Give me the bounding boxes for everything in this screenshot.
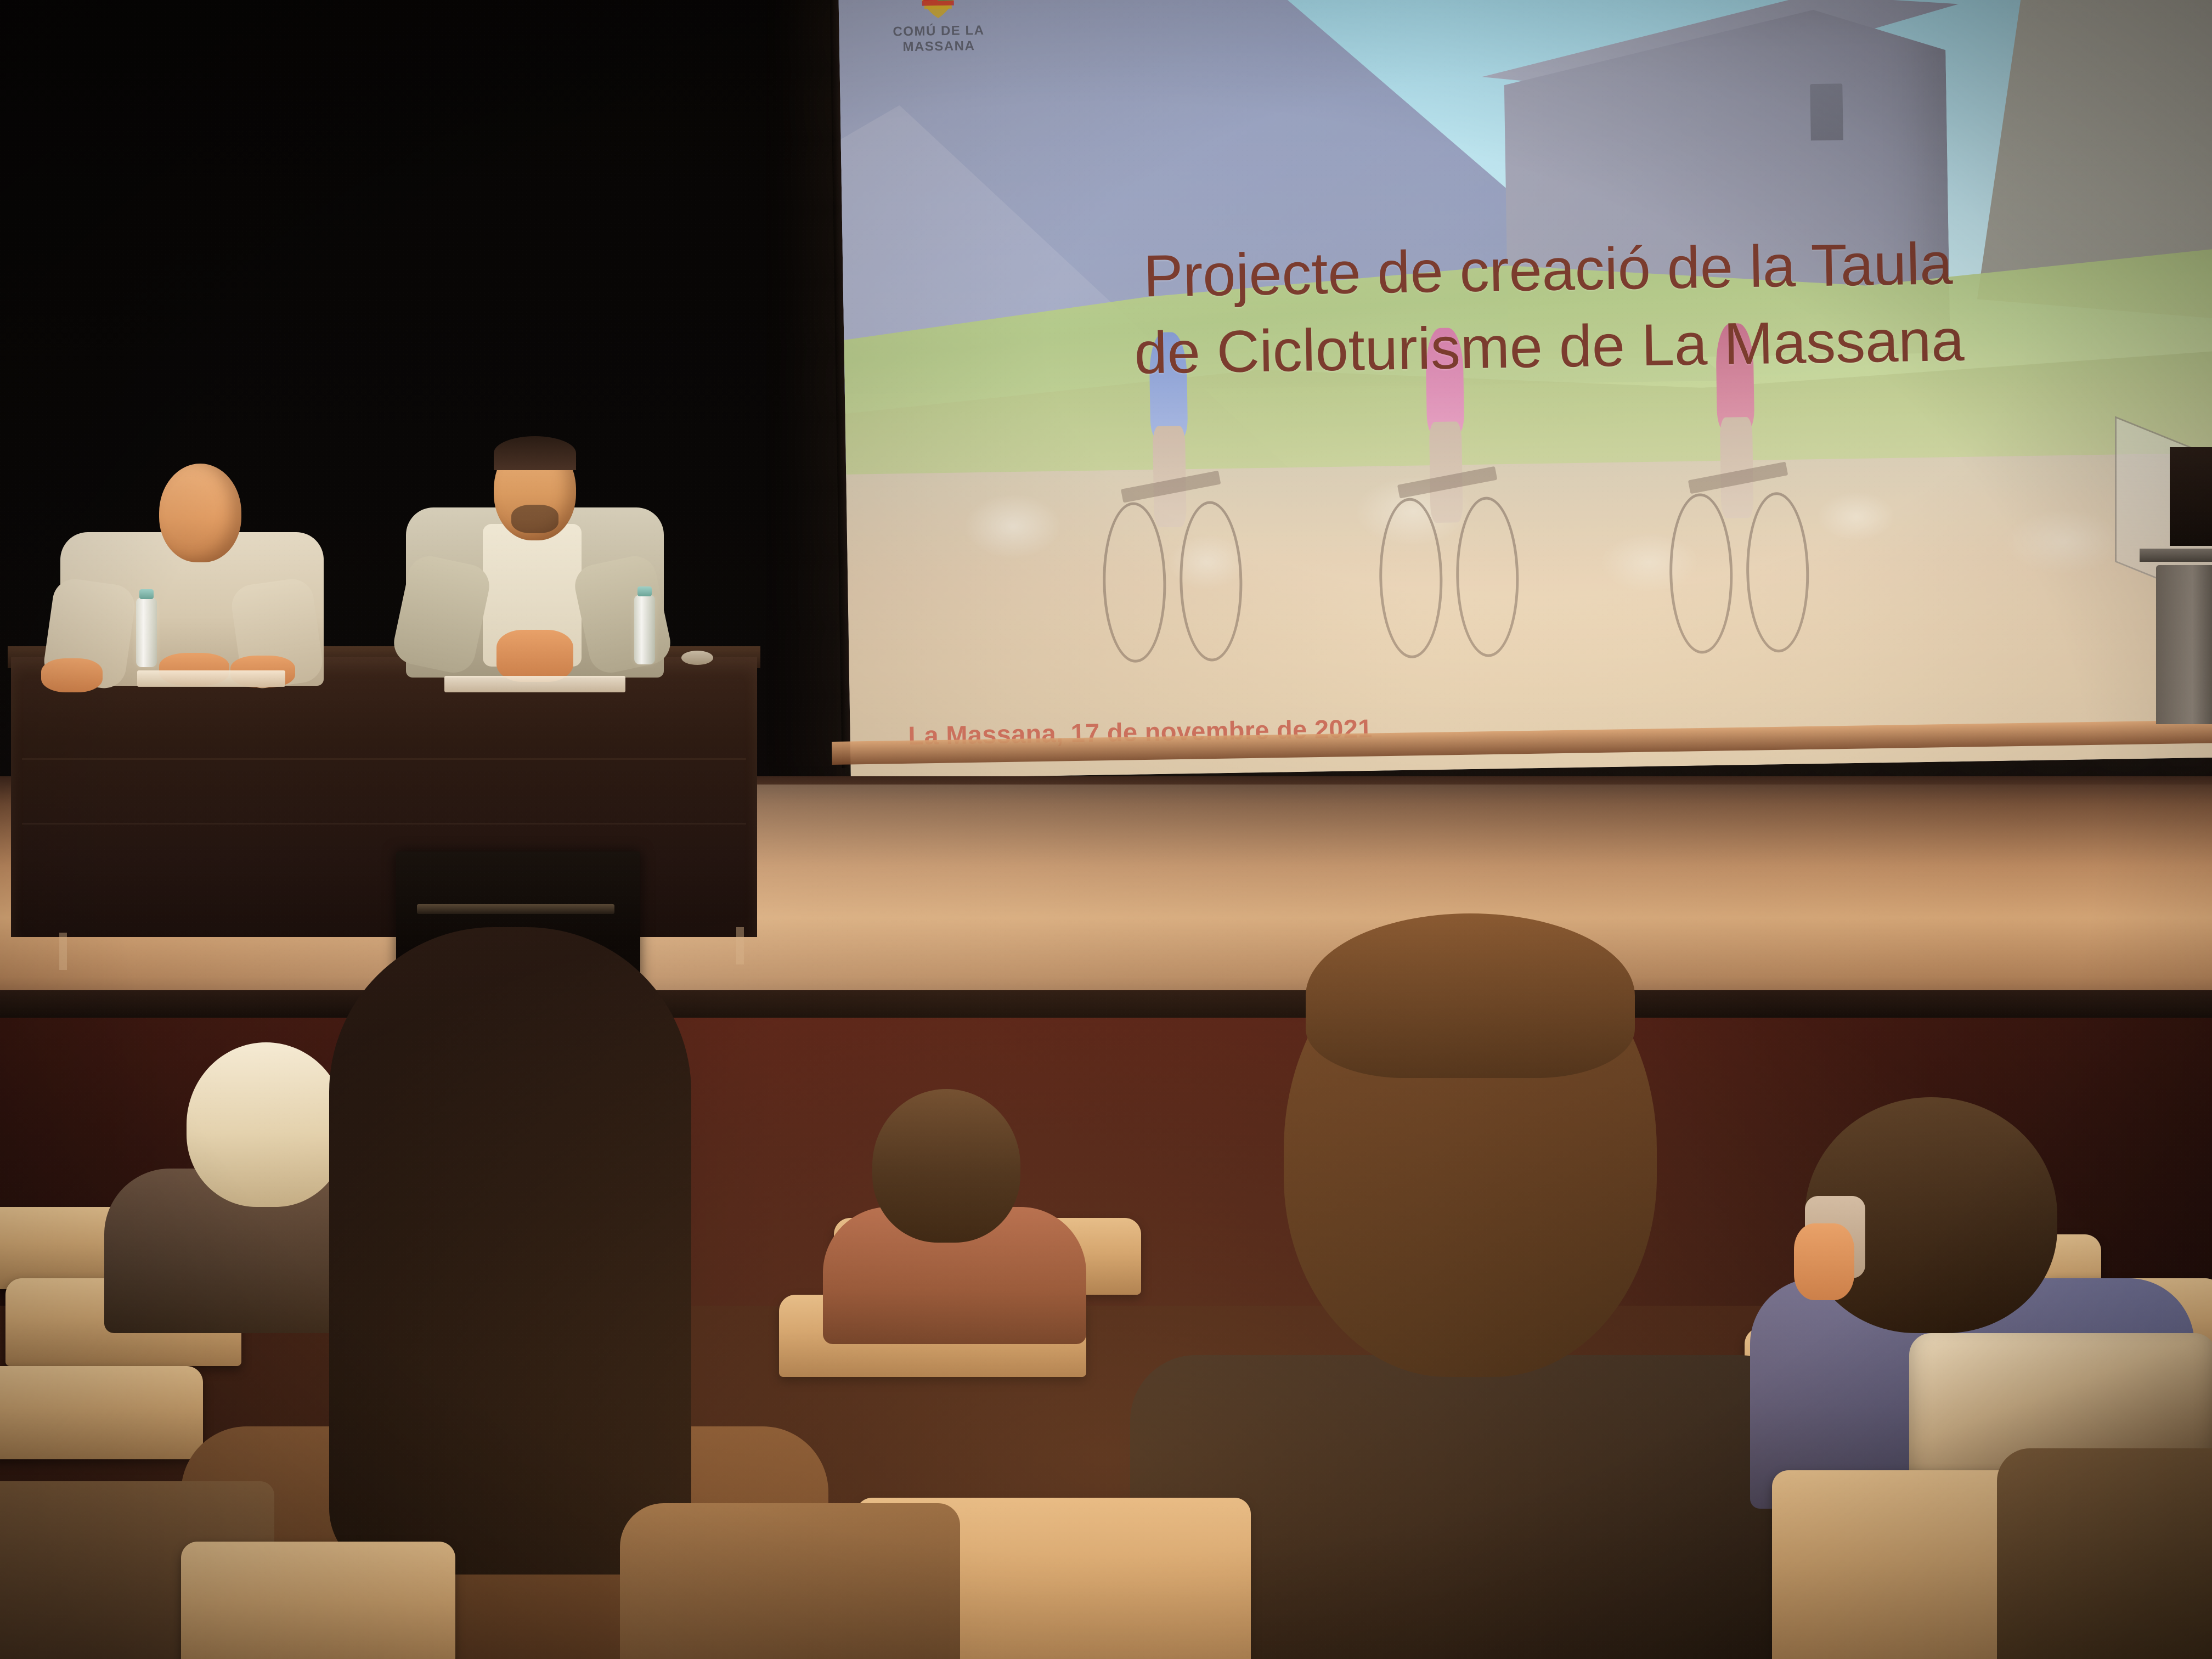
comu-crest-block: COMÚ DE LA MASSANA [876,0,1001,55]
water-bottle [634,595,655,664]
speaker-right-clasped-hands [496,630,573,682]
lectern-column [2156,565,2212,724]
audience-seat[interactable] [181,1542,455,1659]
audience-head [872,1089,1020,1243]
speaker-right-hair [494,436,576,470]
audience-foreground-jacket [1997,1448,2212,1659]
water-bottle [136,598,157,667]
audience-spiky-hair-top [1306,913,1635,1078]
speaker-left-papers [137,670,285,687]
floor-monitor-slot [417,904,614,914]
projection-screen: COMÚ DE LA MASSANA Projecte de creació d… [838,0,2212,779]
audience-foreground-jacket [620,1503,960,1659]
table-drape-fold [22,758,746,760]
speaker-right-papers [444,676,625,692]
table-leg [736,927,744,964]
bottle-cap [139,589,154,599]
lectern-dark-block [2170,447,2212,546]
audience-hand [1794,1223,1854,1300]
small-dish [681,651,713,665]
bottle-cap [637,586,652,596]
slide-title: Projecte de creació de la Taula de Ciclo… [926,222,2172,395]
speaker-left-head [159,464,241,562]
speaker-left-hand [41,658,103,692]
organization-label: COMÚ DE LA MASSANA [876,22,1001,55]
presentation-slide: COMÚ DE LA MASSANA Projecte de creació d… [838,0,2212,779]
coat-of-arms-icon [914,0,962,22]
audience-head [187,1042,346,1207]
table-drape [11,657,757,937]
speaker-right-beard [511,505,558,533]
table-leg [59,933,67,970]
table-drape-fold [22,823,746,825]
audience-seat[interactable] [0,1366,203,1459]
lectern-shelf [2140,549,2212,562]
presentation-photo: COMÚ DE LA MASSANA Projecte de creació d… [0,0,2212,1659]
audience-head [329,927,691,1575]
